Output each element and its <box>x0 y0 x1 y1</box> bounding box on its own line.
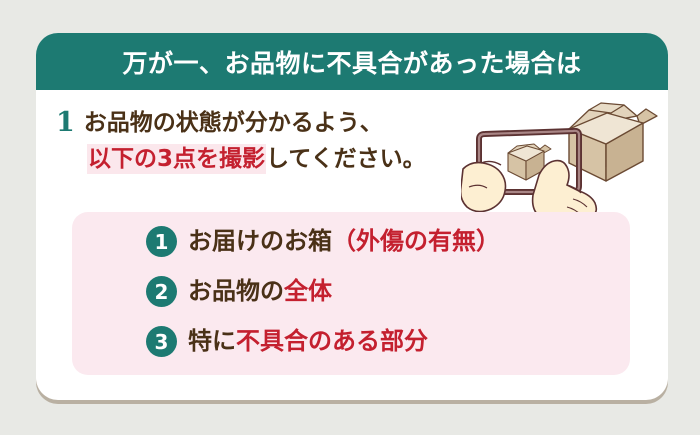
list-item-2-plain: お品物の <box>188 277 284 305</box>
list-item-1-text: お届けのお箱（外傷の有無） <box>188 226 500 257</box>
step-line-1: 1 お品物の状態が分かるよう、 <box>56 105 496 141</box>
photo-checklist-panel: 1 お届けのお箱（外傷の有無） 2 お品物の全体 3 特に不具合のある部分 <box>72 212 630 375</box>
list-item-3-red: 不具合のある部分 <box>236 327 428 355</box>
step-number: 1 <box>56 105 75 141</box>
notice-card: 万が一、お品物に不具合があった場合は 1 お品物の状態が分かるよう、 以下の3点… <box>36 33 668 400</box>
list-badge-3: 3 <box>146 326 177 357</box>
step-highlight-text: 以下の3点を撮影 <box>87 144 266 174</box>
list-badge-2: 2 <box>146 276 177 307</box>
list-item-3-text: 特に不具合のある部分 <box>188 326 428 357</box>
list-item: 3 特に不具合のある部分 <box>146 326 428 357</box>
list-item: 1 お届けのお箱（外傷の有無） <box>146 226 500 257</box>
list-item-2-text: お品物の全体 <box>188 276 332 307</box>
step-line-1-text: お品物の状態が分かるよう、 <box>84 105 383 141</box>
list-item: 2 お品物の全体 <box>146 276 332 307</box>
cardboard-box-icon <box>569 103 657 181</box>
cardboard-box-small-icon <box>508 144 551 180</box>
hand-right-icon <box>533 161 597 216</box>
list-badge-1: 1 <box>146 226 177 257</box>
list-item-3-plain: 特に <box>188 327 236 355</box>
list-item-1-red: （外傷の有無） <box>332 227 500 255</box>
step-line-2-rest: してください。 <box>266 146 426 172</box>
step-line-2: 以下の3点を撮影してください。 <box>87 141 496 179</box>
card-header: 万が一、お品物に不具合があった場合は <box>36 33 668 90</box>
list-item-1-plain: お届けのお箱 <box>188 227 332 255</box>
list-item-2-red: 全体 <box>284 277 332 305</box>
step-instruction: 1 お品物の状態が分かるよう、 以下の3点を撮影してください。 <box>56 105 496 179</box>
page-title: 万が一、お品物に不具合があった場合は <box>122 44 581 80</box>
